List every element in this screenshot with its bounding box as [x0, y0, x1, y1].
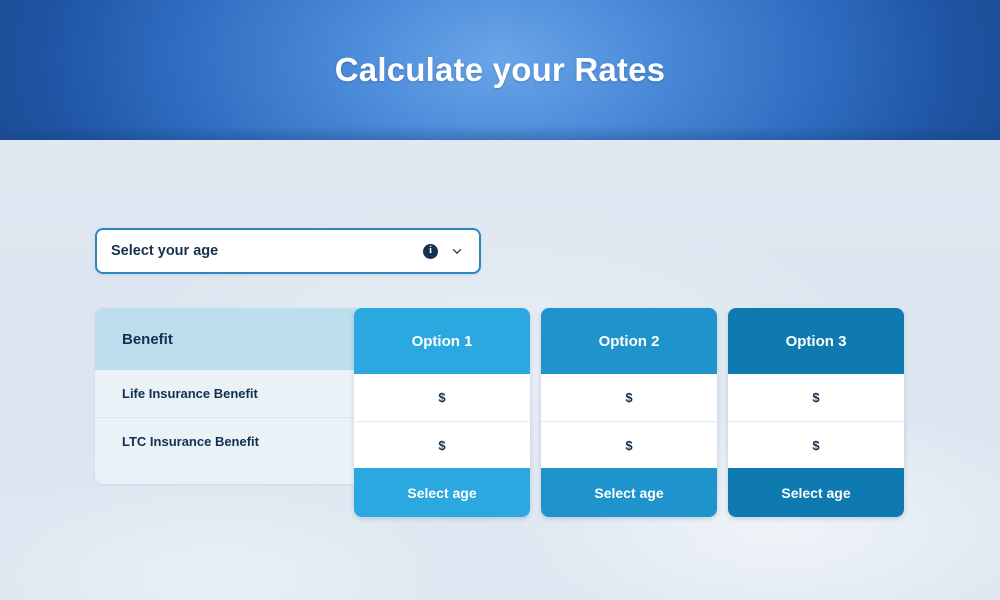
option-card-header: Option 1: [354, 308, 530, 374]
benefit-header-label: Benefit: [122, 331, 173, 348]
table-row: Life Insurance Benefit: [95, 370, 367, 417]
option-card-1: Option 1 $ $ Select age: [354, 308, 530, 517]
table-row: LTC Insurance Benefit: [95, 417, 367, 464]
option-value-cell: $: [354, 374, 530, 421]
option-card-header: Option 2: [541, 308, 717, 374]
select-age-button[interactable]: Select age: [541, 468, 717, 517]
age-select-label: Select your age: [111, 243, 423, 259]
info-icon[interactable]: i: [423, 244, 438, 259]
option-value-cell: $: [728, 374, 904, 421]
benefit-row-label: Life Insurance Benefit: [122, 386, 258, 401]
select-age-button[interactable]: Select age: [728, 468, 904, 517]
select-age-button[interactable]: Select age: [354, 468, 530, 517]
chevron-down-icon[interactable]: [451, 245, 463, 257]
option-value-cell: $: [728, 421, 904, 468]
page-header: Calculate your Rates: [0, 0, 1000, 140]
rates-comparison-table: Benefit Life Insurance Benefit LTC Insur…: [95, 308, 905, 520]
header-bottom-fade: [0, 126, 1000, 140]
option-value-cell: $: [541, 374, 717, 421]
page-title: Calculate your Rates: [0, 0, 1000, 140]
option-card-header: Option 3: [728, 308, 904, 374]
option-value-cell: $: [541, 421, 717, 468]
benefit-row-label: LTC Insurance Benefit: [122, 434, 259, 449]
option-cards: Option 1 $ $ Select age Option 2 $ $ Sel…: [354, 308, 905, 517]
benefit-column-header: Benefit: [95, 308, 367, 370]
benefit-column: Benefit Life Insurance Benefit LTC Insur…: [95, 308, 367, 484]
option-card-3: Option 3 $ $ Select age: [728, 308, 904, 517]
option-value-cell: $: [354, 421, 530, 468]
benefit-column-footer-spacer: [95, 464, 367, 484]
option-card-2: Option 2 $ $ Select age: [541, 308, 717, 517]
age-select-dropdown[interactable]: Select your age i: [95, 228, 481, 274]
